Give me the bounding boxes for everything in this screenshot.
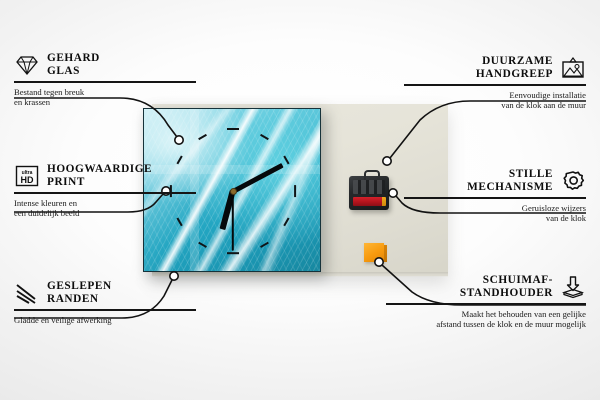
feature-geslepen-randen[interactable]: GESLEPEN RANDEN Gladde en veilige afwerk… bbox=[14, 280, 196, 325]
foam-spacer-icon bbox=[560, 275, 586, 299]
feature-description: Intense kleuren en een duidelijk beeld bbox=[14, 198, 196, 219]
feature-description: Bestand tegen breuk en krassen bbox=[14, 87, 196, 108]
divider bbox=[404, 84, 586, 86]
feature-title: STILLE MECHANISME bbox=[467, 168, 553, 194]
diagonal-lines-icon bbox=[14, 281, 40, 305]
feature-title: GEHARD GLAS bbox=[47, 52, 100, 78]
feature-duurzame-handgreep[interactable]: DUURZAME HANDGREEP Eenvoudige installati… bbox=[404, 55, 586, 111]
infographic-canvas: GEHARD GLAS Bestand tegen breuk en krass… bbox=[0, 0, 600, 400]
feature-stille-mechanisme[interactable]: STILLE MECHANISME Geruisloze wijzers van… bbox=[404, 168, 586, 224]
picture-frame-icon bbox=[560, 56, 586, 80]
feature-header: SCHUIMAF- STANDHOUDER bbox=[386, 274, 586, 300]
feature-header: GEHARD GLAS bbox=[14, 52, 196, 78]
svg-text:HD: HD bbox=[21, 175, 34, 185]
feature-description: Maakt het behouden van een gelijke afsta… bbox=[386, 309, 586, 330]
ultra-hd-icon: ultra HD bbox=[14, 164, 40, 188]
feature-header: ultra HD HOOGWAARDIGE PRINT bbox=[14, 163, 196, 189]
divider bbox=[14, 309, 196, 311]
feature-header: DUURZAME HANDGREEP bbox=[404, 55, 586, 81]
divider bbox=[14, 81, 196, 83]
feature-title: DUURZAME HANDGREEP bbox=[476, 55, 553, 81]
feature-description: Geruisloze wijzers van de klok bbox=[404, 203, 586, 224]
feature-hoogwaardige-print[interactable]: ultra HD HOOGWAARDIGE PRINT Intense kleu… bbox=[14, 163, 196, 219]
gear-icon bbox=[560, 169, 586, 193]
feature-header: GESLEPEN RANDEN bbox=[14, 280, 196, 306]
feature-title: GESLEPEN RANDEN bbox=[47, 280, 112, 306]
feature-gehard-glas[interactable]: GEHARD GLAS Bestand tegen breuk en krass… bbox=[14, 52, 196, 108]
feature-header: STILLE MECHANISME bbox=[404, 168, 586, 194]
divider bbox=[404, 197, 586, 199]
feature-title: HOOGWAARDIGE PRINT bbox=[47, 163, 152, 189]
feature-schuimafstandhouder[interactable]: SCHUIMAF- STANDHOUDER Maakt het behouden… bbox=[386, 274, 586, 330]
divider bbox=[386, 303, 586, 305]
feature-description: Gladde en veilige afwerking bbox=[14, 315, 196, 325]
divider bbox=[14, 192, 196, 194]
feature-title: SCHUIMAF- STANDHOUDER bbox=[460, 274, 553, 300]
diamond-icon bbox=[14, 53, 40, 77]
feature-description: Eenvoudige installatie van de klok aan d… bbox=[404, 90, 586, 111]
